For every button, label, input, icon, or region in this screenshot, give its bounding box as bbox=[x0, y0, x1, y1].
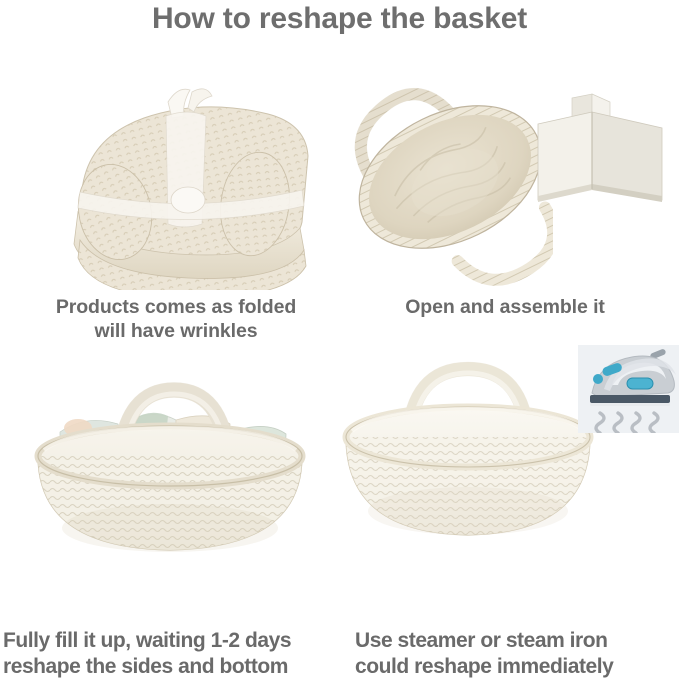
caption-step-open: Open and assemble it bbox=[345, 296, 665, 320]
iron-soleplate bbox=[590, 395, 670, 403]
image-open-basket bbox=[348, 66, 553, 288]
image-filled-basket bbox=[20, 358, 320, 583]
infographic-root: How to reshape the basket bbox=[0, 0, 679, 687]
caption-step-fill: Fully fill it up, waiting 1-2 days resha… bbox=[3, 628, 348, 679]
image-divider-insert bbox=[528, 92, 673, 207]
iron-button bbox=[593, 374, 603, 384]
iron-steam-button bbox=[627, 378, 653, 389]
steam-iron-icon bbox=[578, 345, 679, 433]
image-folded-basket bbox=[40, 72, 340, 290]
caption-step-folded: Products comes as folded will have wrink… bbox=[16, 296, 336, 344]
page-title: How to reshape the basket bbox=[0, 2, 679, 36]
caption-step-steam: Use steamer or steam iron could reshape … bbox=[355, 628, 679, 679]
image-empty-basket bbox=[338, 345, 598, 575]
